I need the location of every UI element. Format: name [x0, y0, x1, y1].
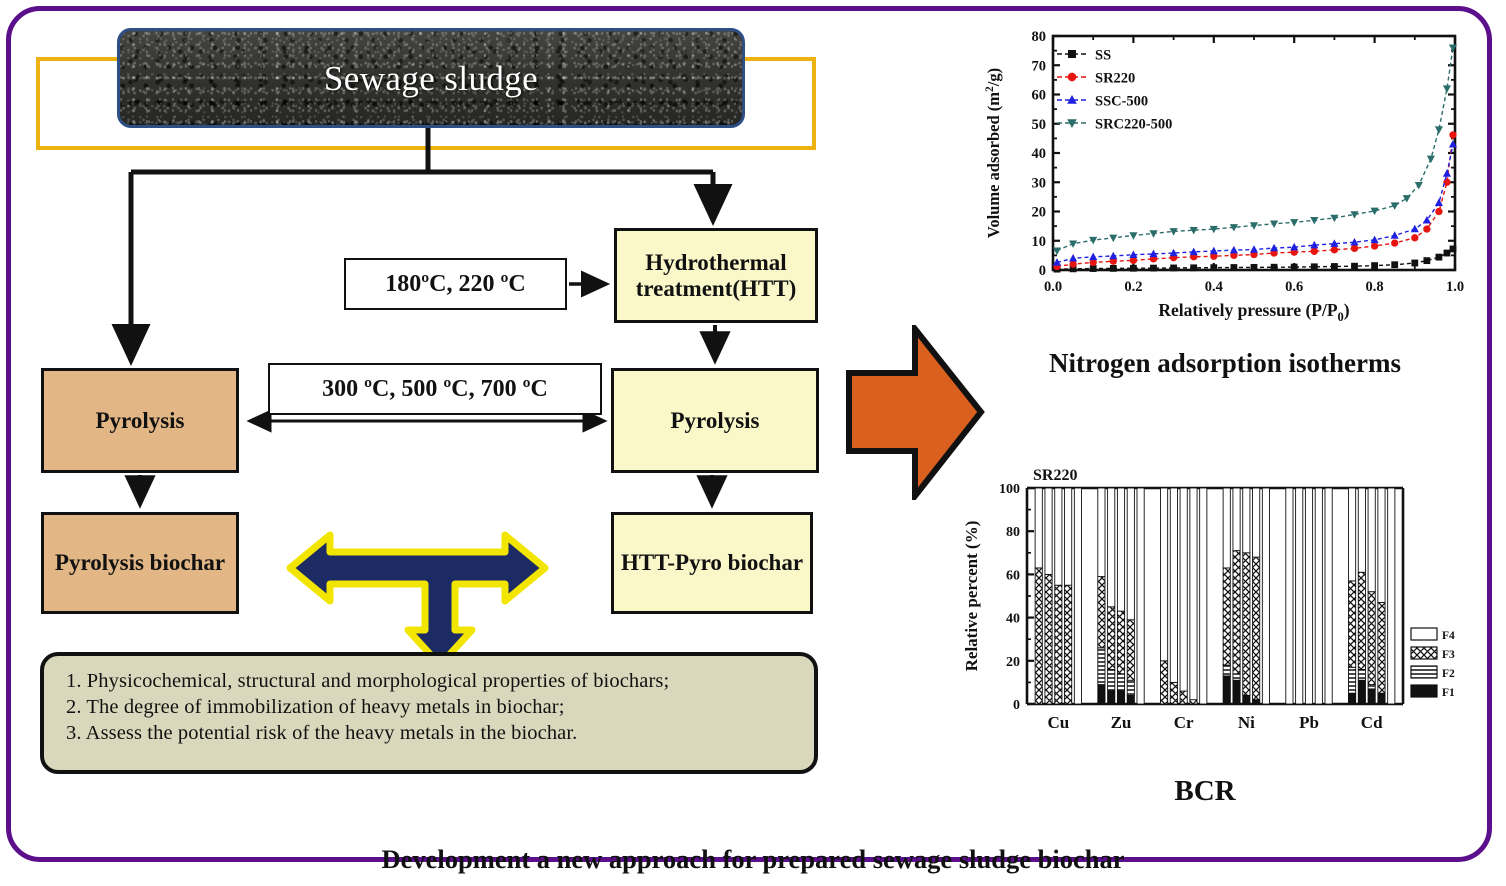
bar-segment-F4	[1243, 488, 1250, 553]
bar-segment-F1	[1368, 689, 1375, 704]
pyrolysis-temperature-box: 300 ºC, 500 ºC, 700 ºC	[268, 363, 602, 415]
svg-text:10: 10	[1032, 234, 1047, 250]
conclusion-item-2: 2. The degree of immobilization of heavy…	[66, 696, 794, 719]
htt-pyro-biochar-label: HTT-Pyro biochar	[621, 550, 803, 576]
bar-segment-F4	[1262, 488, 1269, 704]
svg-text:0.6: 0.6	[1285, 279, 1303, 295]
bar-segment-F4	[1358, 488, 1365, 572]
bar-segment-F3	[1253, 557, 1260, 700]
bar-segment-F3	[1127, 620, 1134, 680]
svg-text:Volume adsorbed (m2/g): Volume adsorbed (m2/g)	[984, 68, 1003, 238]
bar-segment-F1	[1098, 685, 1105, 704]
htt-pyro-biochar-box: HTT-Pyro biochar	[611, 512, 813, 614]
svg-text:SS: SS	[1095, 48, 1111, 64]
bar-segment-F3	[1358, 572, 1365, 669]
bar-group-Pb	[1286, 488, 1332, 704]
bar-segment-F4	[1286, 488, 1293, 704]
bcr-annotation: SR220	[1033, 467, 1077, 484]
bar-segment-F3	[1348, 581, 1355, 667]
caption-rule-left	[296, 857, 368, 862]
bcr-chart-title: BCR	[1040, 775, 1370, 808]
sewage-sludge-label: Sewage sludge	[120, 59, 742, 99]
graphical-abstract: Sewage sludge	[0, 0, 1506, 886]
bar-segment-F4	[1388, 488, 1395, 704]
svg-text:0.0: 0.0	[1044, 279, 1062, 295]
bar-segment-F4	[1170, 488, 1177, 682]
bar-segment-F3	[1180, 691, 1187, 704]
svg-text:100: 100	[999, 482, 1020, 497]
bar-segment-F4	[1055, 488, 1062, 585]
bcr-legend: F4F3F2F1	[1411, 628, 1455, 699]
bar-group-Cu	[1035, 488, 1081, 704]
x-tick-Cd: Cd	[1361, 713, 1383, 732]
bar-segment-F3	[1368, 592, 1375, 685]
pyrolysis-box-right: Pyrolysis	[611, 368, 819, 473]
nitrogen-chart-title: Nitrogen adsorption isotherms	[985, 348, 1465, 379]
bar-segment-F1	[1108, 691, 1115, 704]
bar-segment-F4	[1378, 488, 1385, 602]
svg-text:40: 40	[1006, 612, 1020, 627]
bar-segment-F1	[1243, 695, 1250, 704]
bar-segment-F1	[1223, 676, 1230, 704]
bar-segment-F4	[1137, 488, 1144, 704]
bar-segment-F4	[1108, 488, 1115, 607]
bar-segment-F4	[1035, 488, 1042, 568]
bar-segment-F2	[1127, 680, 1134, 695]
x-tick-Cu: Cu	[1047, 713, 1069, 732]
x-tick-Pb: Pb	[1299, 713, 1319, 732]
bar-segment-F3	[1223, 568, 1230, 665]
bar-segment-F1	[1378, 693, 1385, 704]
svg-text:Relative percent (%): Relative percent (%)	[962, 521, 981, 672]
bar-segment-F2	[1358, 669, 1365, 680]
bar-segment-F4	[1190, 488, 1197, 700]
bar-segment-F3	[1378, 602, 1385, 693]
pyrolysis-biochar-box: Pyrolysis biochar	[41, 512, 239, 614]
nitrogen-adsorption-chart: 010203040506070800.00.20.40.60.81.0Relat…	[975, 22, 1475, 342]
pyrolysis-left-label: Pyrolysis	[95, 408, 184, 434]
bar-segment-F3	[1117, 611, 1124, 674]
bar-segment-F4	[1315, 488, 1322, 704]
svg-text:20: 20	[1006, 655, 1020, 670]
bar-segment-F4	[1065, 488, 1072, 585]
bar-segment-F4	[1160, 488, 1167, 661]
bar-segment-F3	[1190, 700, 1197, 704]
bar-segment-F4	[1305, 488, 1312, 704]
bar-segment-F3	[1098, 577, 1105, 648]
conclusion-item-1: 1. Physicochemical, structural and morph…	[66, 670, 794, 693]
svg-text:SRC220-500: SRC220-500	[1095, 117, 1172, 133]
bar-segment-F4	[1233, 488, 1240, 551]
legend-label-F3: F3	[1442, 649, 1455, 661]
svg-text:80: 80	[1006, 525, 1020, 540]
pyrolysis-right-label: Pyrolysis	[670, 408, 759, 434]
bar-segment-F2	[1223, 665, 1230, 676]
svg-text:60: 60	[1032, 88, 1047, 104]
pyrolysis-temperature-label: 300 ºC, 500 ºC, 700 ºC	[322, 376, 548, 403]
bar-segment-F1	[1348, 693, 1355, 704]
x-tick-Cr: Cr	[1174, 713, 1194, 732]
bar-segment-F3	[1045, 574, 1052, 704]
bottom-caption: Development a new approach for prepared …	[382, 844, 1125, 875]
svg-text:0.2: 0.2	[1124, 279, 1142, 295]
svg-text:SSC-500: SSC-500	[1095, 94, 1148, 110]
svg-text:70: 70	[1032, 58, 1047, 74]
bar-segment-F2	[1348, 667, 1355, 693]
bar-segment-F2	[1108, 669, 1115, 691]
bar-segment-F3	[1243, 553, 1250, 696]
bar-segment-F2	[1368, 685, 1375, 689]
legend-swatch-F1	[1411, 685, 1437, 697]
bar-segment-F3	[1233, 551, 1240, 674]
bar-segment-F2	[1098, 648, 1105, 685]
bar-segment-F4	[1098, 488, 1105, 577]
legend-swatch-F4	[1411, 628, 1437, 640]
sewage-sludge-box: Sewage sludge	[117, 28, 745, 128]
svg-text:0.4: 0.4	[1205, 279, 1223, 295]
legend-label-F4: F4	[1442, 630, 1455, 642]
conclusion-item-3: 3. Assess the potential risk of the heav…	[66, 722, 794, 745]
htt-temperature-label: 180ºC, 220 ºC	[385, 271, 526, 298]
svg-text:30: 30	[1032, 175, 1047, 191]
svg-text:0: 0	[1039, 263, 1046, 279]
svg-text:20: 20	[1032, 205, 1047, 221]
bar-segment-F1	[1358, 680, 1365, 704]
bar-group-Zu	[1098, 488, 1144, 704]
legend-label-F1: F1	[1442, 687, 1455, 699]
svg-text:Relatively pressure (P/P0): Relatively pressure (P/P0)	[1158, 300, 1349, 324]
bcr-fractionation-chart: SR220020406080100Relative percent (%)CuZ…	[955, 452, 1475, 762]
legend-swatch-F2	[1411, 666, 1437, 678]
bar-segment-F2	[1117, 674, 1124, 691]
caption-rule-right	[1138, 857, 1210, 862]
bar-segment-F4	[1348, 488, 1355, 581]
svg-text:0: 0	[1013, 698, 1020, 713]
svg-text:50: 50	[1032, 117, 1047, 133]
x-tick-Zu: Zu	[1111, 713, 1132, 732]
bottom-caption-row: Development a new approach for prepared …	[0, 838, 1506, 880]
svg-text:0.8: 0.8	[1366, 279, 1384, 295]
legend-label-F2: F2	[1442, 668, 1455, 680]
legend-swatch-F3	[1411, 647, 1437, 659]
bar-segment-F4	[1045, 488, 1052, 574]
bar-segment-F4	[1127, 488, 1134, 620]
bar-segment-F1	[1253, 700, 1260, 704]
bar-segment-F4	[1253, 488, 1260, 557]
bar-segment-F1	[1233, 680, 1240, 704]
htt-temperature-box: 180ºC, 220 ºC	[344, 258, 567, 310]
bar-segment-F3	[1065, 585, 1072, 704]
bar-segment-F3	[1160, 661, 1167, 704]
x-tick-Ni: Ni	[1238, 713, 1255, 732]
bar-segment-F4	[1223, 488, 1230, 568]
pyrolysis-biochar-label: Pyrolysis biochar	[55, 550, 225, 576]
hydrothermal-treatment-label: Hydrothermal treatment(HTT)	[619, 250, 813, 302]
svg-text:60: 60	[1006, 568, 1020, 583]
bar-segment-F3	[1170, 682, 1177, 704]
hydrothermal-treatment-box: Hydrothermal treatment(HTT)	[614, 228, 818, 323]
bar-segment-F3	[1055, 585, 1062, 704]
bar-segment-F3	[1035, 568, 1042, 704]
bar-segment-F4	[1325, 488, 1332, 704]
bar-group-Cd	[1348, 488, 1394, 704]
bar-segment-F4	[1200, 488, 1207, 704]
bar-segment-F4	[1074, 488, 1081, 704]
bar-segment-F2	[1233, 674, 1240, 680]
pyrolysis-box-left: Pyrolysis	[41, 368, 239, 473]
svg-text:1.0: 1.0	[1446, 279, 1464, 295]
bar-segment-F4	[1117, 488, 1124, 611]
bar-segment-F4	[1296, 488, 1303, 704]
bar-segment-F1	[1117, 691, 1124, 704]
bar-group-Ni	[1223, 488, 1269, 704]
bar-segment-F1	[1127, 695, 1134, 704]
bar-segment-F3	[1108, 607, 1115, 670]
bar-segment-F4	[1368, 488, 1375, 592]
svg-text:80: 80	[1032, 29, 1047, 45]
svg-text:40: 40	[1032, 146, 1047, 162]
bar-group-Cr	[1160, 488, 1206, 704]
svg-text:SR220: SR220	[1095, 71, 1135, 87]
legend: SSSR220SSC-500SRC220-500	[1057, 48, 1172, 133]
conclusions-box: 1. Physicochemical, structural and morph…	[40, 652, 818, 774]
bar-segment-F4	[1180, 488, 1187, 691]
